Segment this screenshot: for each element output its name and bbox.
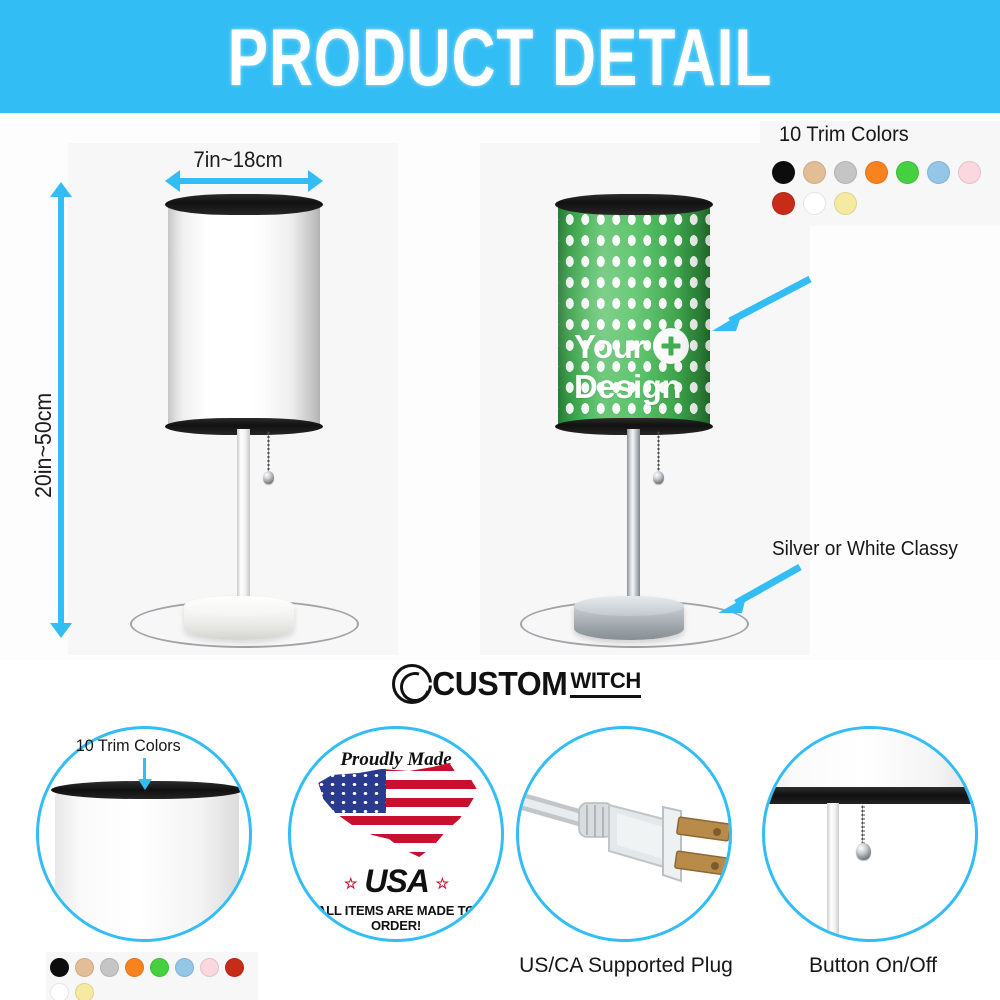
swatch-tan[interactable] bbox=[75, 958, 94, 977]
lamp-base-white bbox=[184, 596, 294, 640]
swatch-black[interactable] bbox=[50, 958, 69, 977]
logo-c-icon bbox=[392, 664, 432, 704]
made-in-usa-circle: Proudly Made in the ☆ USA ☆ ALL ITEMS AR… bbox=[288, 726, 504, 942]
shade-green-wrap: Your Design bbox=[558, 203, 710, 428]
swatch-orange[interactable] bbox=[125, 958, 144, 977]
mini-trim-bar-black bbox=[767, 787, 978, 804]
swatch-black[interactable] bbox=[772, 161, 795, 184]
swatch-light-blue[interactable] bbox=[175, 958, 194, 977]
brand-logo: CUSTOM WITCH bbox=[392, 664, 641, 704]
product-detail-infographic: PRODUCT DETAIL 7in~18cm 20in~50cm bbox=[0, 0, 1000, 1000]
swatch-white[interactable] bbox=[803, 192, 826, 215]
base-finish-arrow bbox=[700, 561, 810, 623]
feature-trim-colors: 10 Trim Colors bbox=[36, 726, 258, 1000]
plus-icon bbox=[653, 328, 689, 364]
mini-pull-chain[interactable] bbox=[861, 805, 865, 847]
usa-word-text: USA bbox=[364, 863, 427, 899]
page-title: PRODUCT DETAIL bbox=[228, 10, 773, 103]
swatch-pink[interactable] bbox=[200, 958, 219, 977]
trim-colors-inner-label: 10 Trim Colors bbox=[76, 736, 181, 756]
shade-white-wrap bbox=[168, 203, 320, 428]
lampshade-green: Your Design bbox=[558, 203, 710, 428]
swatch-yellow[interactable] bbox=[834, 192, 857, 215]
usa-badge-top-text: Proudly Made bbox=[291, 749, 501, 771]
star-left-icon: ☆ bbox=[344, 876, 356, 893]
swatch-pink[interactable] bbox=[958, 161, 981, 184]
feature-button-onoff: Button On/Off bbox=[762, 726, 984, 1000]
main-stage: 7in~18cm 20in~50cm bbox=[0, 113, 1000, 660]
base-top-face bbox=[184, 596, 294, 616]
power-plug-icon bbox=[521, 759, 732, 909]
your-design-text: Your Design bbox=[558, 328, 710, 403]
logo-main-text: CUSTOM bbox=[432, 665, 567, 703]
swatch-white[interactable] bbox=[50, 983, 69, 1000]
logo-sub-wrap: WITCH bbox=[570, 670, 641, 698]
pull-chain-green[interactable] bbox=[657, 431, 660, 475]
trim-top-black bbox=[165, 194, 323, 215]
button-onoff-circle bbox=[762, 726, 978, 942]
swatch-tan[interactable] bbox=[803, 161, 826, 184]
feature-made-in-usa: Proudly Made in the ☆ USA ☆ ALL ITEMS AR… bbox=[288, 726, 510, 1000]
lamp-stem-silver bbox=[627, 429, 640, 611]
swatch-light-blue[interactable] bbox=[927, 161, 950, 184]
mini-lamp-stem bbox=[827, 803, 839, 942]
star-right-icon: ☆ bbox=[436, 876, 448, 893]
mini-shade-upper bbox=[762, 726, 978, 791]
trim-colors-down-arrow bbox=[143, 758, 146, 780]
base-finish-label: Silver or White Classy bbox=[772, 538, 958, 561]
lamp-base-silver bbox=[574, 596, 684, 640]
plug-circle bbox=[516, 726, 732, 942]
swatch-yellow[interactable] bbox=[75, 983, 94, 1000]
button-onoff-caption: Button On/Off bbox=[762, 954, 984, 978]
shade-gloss bbox=[168, 203, 320, 428]
design-line-1: Your bbox=[574, 330, 645, 363]
design-line-2: Design bbox=[574, 370, 710, 403]
lamp-stem-white bbox=[237, 429, 250, 611]
mini-lampshade-white bbox=[55, 791, 239, 942]
swatch-gray[interactable] bbox=[100, 958, 119, 977]
mini-pull-chain-bead[interactable] bbox=[856, 843, 871, 860]
usa-badge-bottom-text: ALL ITEMS ARE MADE TO ORDER! bbox=[291, 903, 501, 933]
swatch-red[interactable] bbox=[772, 192, 795, 215]
bottom-trim-swatches[interactable] bbox=[46, 952, 258, 1000]
swatch-red[interactable] bbox=[225, 958, 244, 977]
plug-caption: US/CA Supported Plug bbox=[506, 954, 746, 978]
trim-color-swatches[interactable] bbox=[772, 161, 1000, 215]
lamp-white bbox=[0, 113, 400, 660]
pull-chain[interactable] bbox=[267, 431, 270, 475]
logo-underline bbox=[570, 695, 641, 698]
pull-chain-bead-green[interactable] bbox=[653, 471, 664, 484]
usa-flag-map-icon bbox=[315, 761, 483, 861]
usa-badge-word: ☆ USA ☆ bbox=[291, 863, 501, 900]
trim-pointer-arrow bbox=[690, 273, 820, 343]
header-banner: PRODUCT DETAIL bbox=[0, 0, 1000, 113]
pull-chain-bead[interactable] bbox=[263, 471, 274, 484]
trim-colors-heading: 10 Trim Colors bbox=[779, 123, 909, 147]
trim-top-black-green bbox=[555, 194, 713, 215]
swatch-gray[interactable] bbox=[834, 161, 857, 184]
logo-sub-text: WITCH bbox=[570, 670, 641, 692]
swatch-green[interactable] bbox=[150, 958, 169, 977]
feature-plug: US/CA Supported Plug bbox=[516, 726, 756, 1000]
base-top-face-silver bbox=[574, 596, 684, 616]
swatch-green[interactable] bbox=[896, 161, 919, 184]
lampshade-white bbox=[168, 203, 320, 428]
swatch-orange[interactable] bbox=[865, 161, 888, 184]
